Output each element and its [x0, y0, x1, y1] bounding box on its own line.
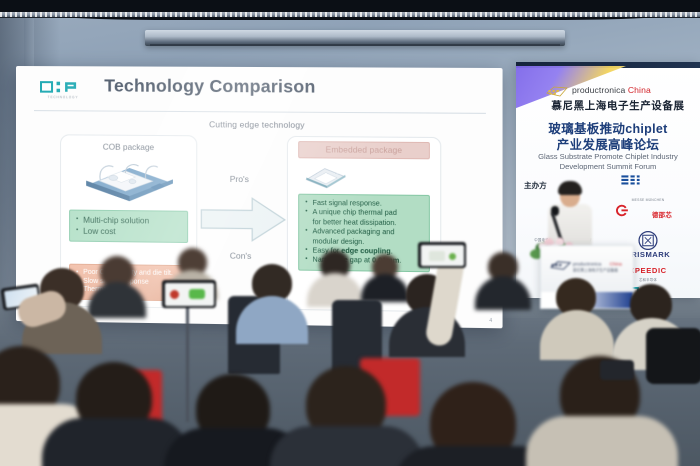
audience: [0, 250, 700, 466]
smartphone-screen: [421, 245, 464, 266]
cob-package-3d-illustration: [77, 157, 182, 202]
smartphone-recording[interactable]: [162, 280, 216, 308]
poster-brand-chinese: 慕尼黑上海电子生产设备展: [540, 98, 696, 113]
conference-photo-scene: TECHNOLOGY Technology Comparison Cutting…: [0, 0, 700, 466]
audience-shoulders: [526, 416, 678, 466]
embedded-package-3d-illustration: [302, 163, 349, 190]
brand-china: China: [628, 85, 651, 95]
cob-package-title: COB package: [61, 142, 196, 152]
oip-logo-subtext: TECHNOLOGY: [40, 95, 86, 100]
poster-forum-title-cn-2: 产业发展高峰论坛: [516, 134, 700, 153]
cob-pro-item: Low cost: [76, 226, 182, 238]
poster-forum-title-en-1: Glass Substrate Promote Chiplet Industry: [516, 152, 700, 161]
sponsor-logo-name: 德邵芯: [628, 210, 696, 219]
speaker-hair: [558, 181, 582, 195]
poster-forum-title-en-2: Development Summit Forum: [516, 162, 700, 171]
oip-logo: TECHNOLOGY: [40, 80, 86, 102]
smartphone-recording[interactable]: [418, 242, 466, 268]
comparison-arrow-icon: [199, 194, 287, 245]
productronica-logo-icon: [546, 85, 568, 98]
ceiling-light-strip: [0, 12, 700, 17]
phone-tripod-stem: [186, 302, 189, 422]
smartphone-screen: [165, 283, 214, 306]
sponsor-logo: 德邵芯: [600, 202, 696, 230]
audience-shoulders: [540, 310, 614, 360]
pros-label: Pro's: [230, 174, 249, 184]
prismark-icon: [637, 230, 659, 251]
sponsor-logo: MESSE MÜNCHEN: [600, 174, 696, 202]
cob-pros-box: Multi-chip solution Low cost: [69, 210, 188, 243]
audience-shoulders: [88, 282, 146, 318]
backpack: [646, 328, 700, 384]
ceiling-curve: [0, 0, 700, 20]
audience-shoulders: [270, 426, 424, 466]
soffit-edge-line: [150, 44, 560, 46]
floor-bag: [600, 360, 634, 380]
audience-shoulders: [361, 274, 409, 302]
oip-logo-icon: [40, 80, 86, 94]
embedded-package-title: Embedded package: [298, 141, 430, 159]
slide-subtitle: Cutting edge technology: [16, 118, 503, 131]
poster-host-label: 主办方: [524, 180, 547, 191]
poster-brand-name: productronica China: [572, 85, 651, 95]
slide-header: TECHNOLOGY Technology Comparison: [30, 76, 488, 113]
brand-productronica: productronica: [572, 85, 625, 95]
audience-shoulders: [475, 276, 531, 310]
messe-muenchen-icon: [608, 174, 688, 188]
slide-title: Technology Comparison: [104, 75, 315, 97]
